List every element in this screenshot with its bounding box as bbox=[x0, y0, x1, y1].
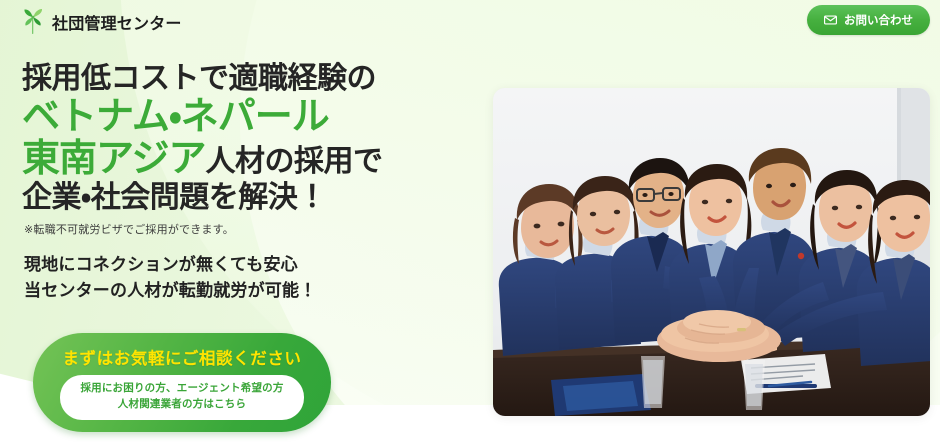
brand-name: 社団管理センター bbox=[52, 10, 182, 34]
contact-button[interactable]: お問い合わせ bbox=[807, 5, 930, 35]
cta-heading: まずはお気軽にご相談ください bbox=[62, 345, 301, 369]
hero-section: 社団管理センター お問い合わせ 採用低コストで適職経験の ベトナム・ネパール 東… bbox=[0, 0, 940, 442]
hero-note: ※転職不可就労ビザでご採用ができます。 bbox=[24, 223, 482, 237]
headline-line-1: 採用低コストで適職経験の bbox=[22, 62, 482, 96]
headline-line-2: ベトナム・ネパール bbox=[22, 96, 482, 139]
headline-line-3-rest: 人材の採用で bbox=[205, 145, 382, 178]
cta-subtext-pill: 採用にお困りの方、エージェント希望の方 人材関連業者の方はこちら bbox=[60, 375, 303, 420]
headline-line-3: 東南アジア人材の採用で bbox=[22, 138, 482, 181]
team-hands-together-photo bbox=[493, 88, 930, 416]
mail-icon bbox=[824, 15, 837, 25]
contact-button-label: お問い合わせ bbox=[844, 12, 913, 28]
headline-line-4: 企業・社会問題を解決！ bbox=[22, 181, 482, 215]
cta-pill-line-2: 人材関連業者の方はこちら bbox=[80, 397, 283, 413]
hero-subline-1: 現地にコネクションが無くても安心 bbox=[24, 252, 482, 278]
headline-line-3-accent: 東南アジア bbox=[22, 138, 205, 180]
pinwheel-logo-icon bbox=[22, 9, 44, 35]
cta-pill-line-1: 採用にお困りの方、エージェント希望の方 bbox=[80, 381, 283, 397]
team-photo-illustration bbox=[493, 88, 930, 416]
brand-logo-link[interactable]: 社団管理センター bbox=[22, 9, 182, 35]
hero-subline-2: 当センターの人材が転勤就労が可能！ bbox=[24, 278, 482, 304]
hero-headline: 採用低コストで適職経験の ベトナム・ネパール 東南アジア人材の採用で 企業・社会… bbox=[22, 62, 482, 214]
hero-sublines: 現地にコネクションが無くても安心 当センターの人材が転勤就労が可能！ bbox=[24, 252, 482, 305]
site-header: 社団管理センター お問い合わせ bbox=[0, 0, 940, 44]
consultation-cta-button[interactable]: まずはお気軽にご相談ください 採用にお困りの方、エージェント希望の方 人材関連業… bbox=[33, 333, 331, 432]
hero-copy: 採用低コストで適職経験の ベトナム・ネパール 東南アジア人材の採用で 企業・社会… bbox=[22, 62, 482, 304]
